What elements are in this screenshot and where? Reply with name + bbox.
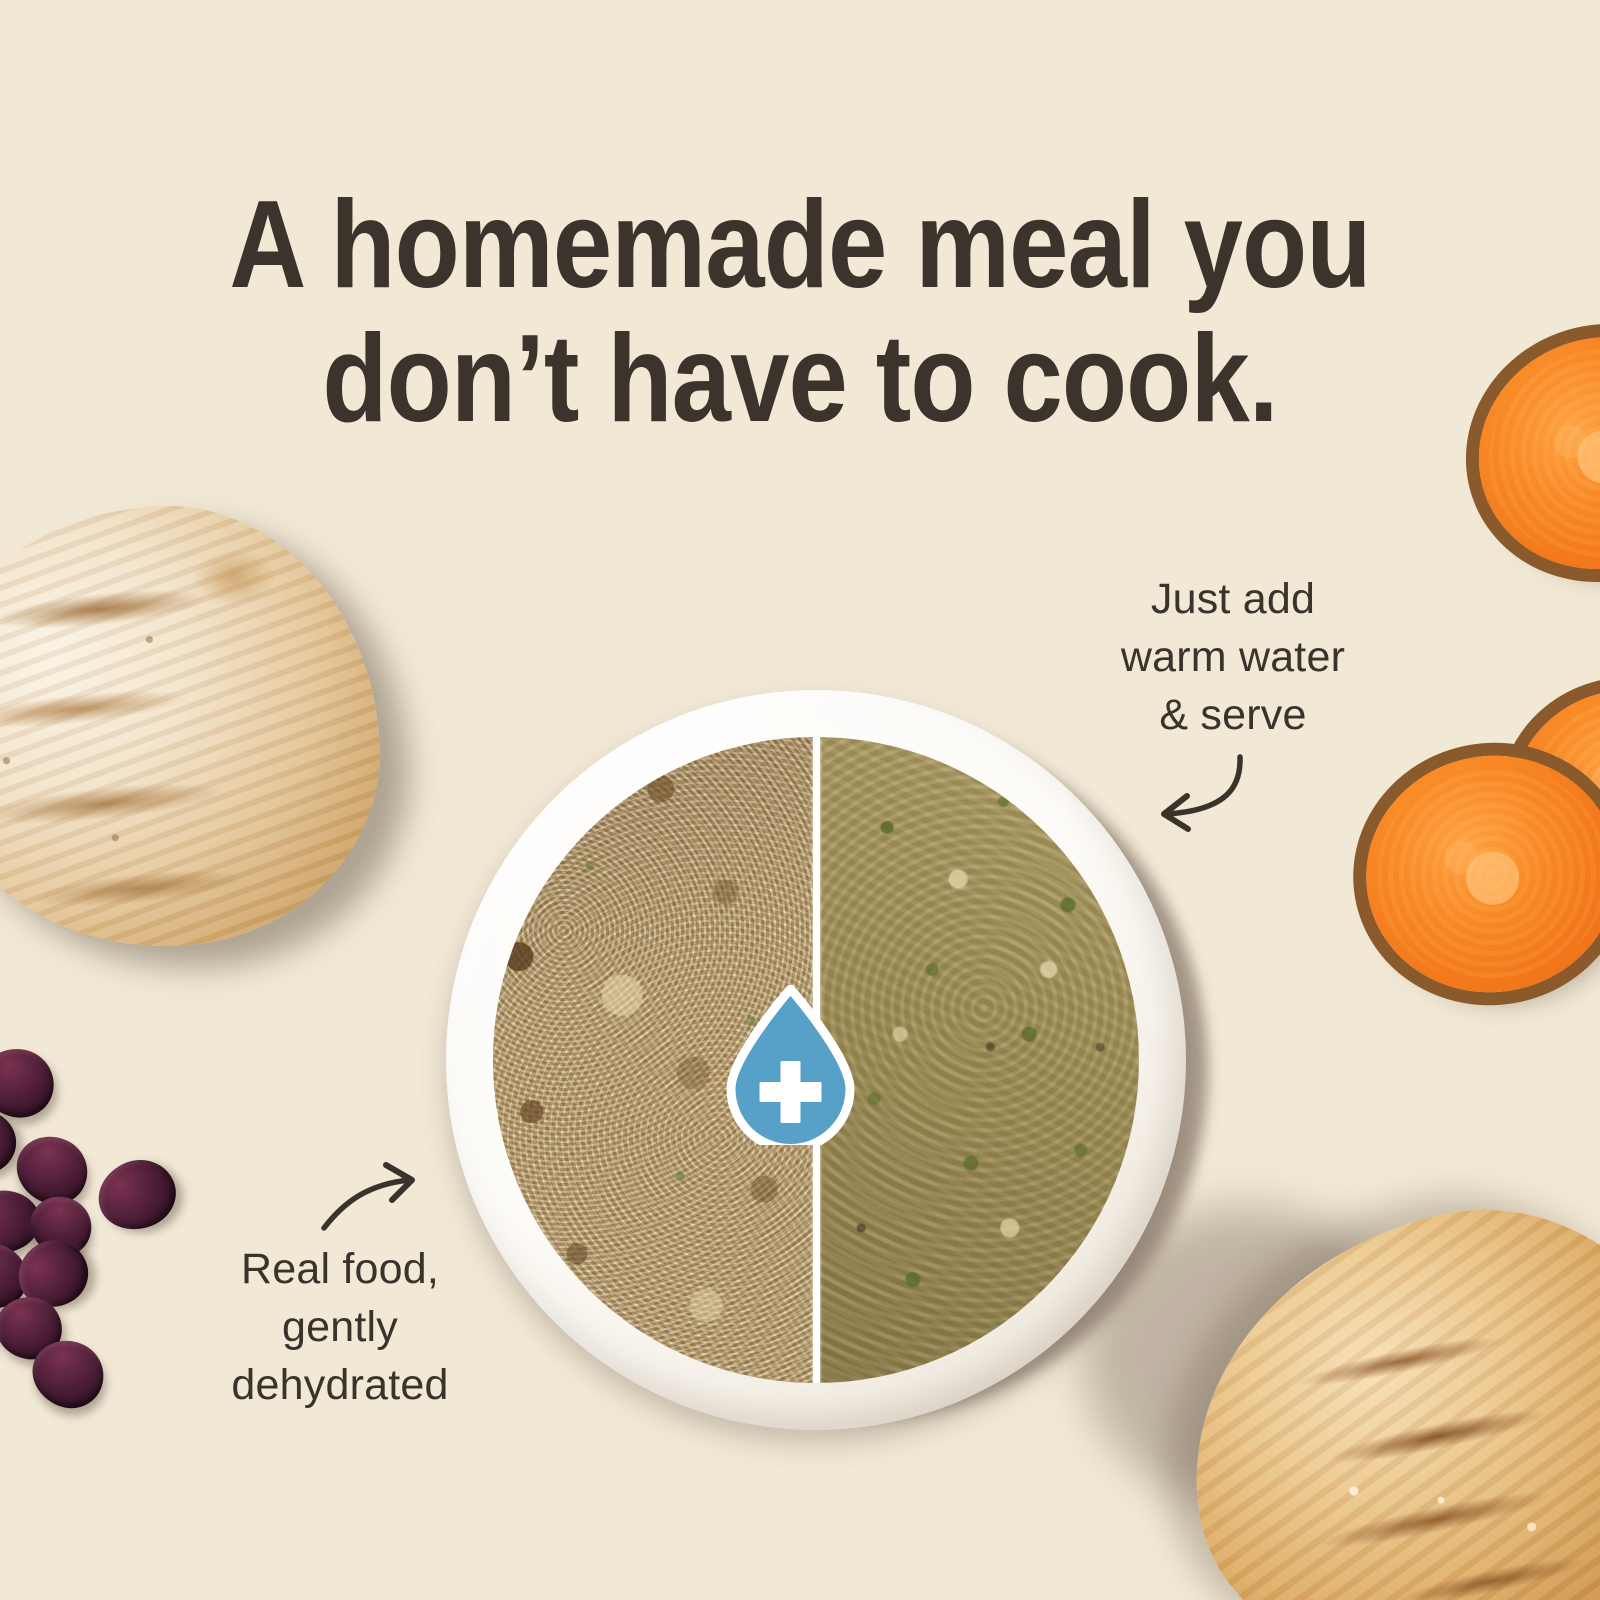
annotation-add-water: Just add warm water & serve — [1068, 570, 1398, 744]
fish-fillet-image — [0, 485, 399, 970]
water-drop-plus-icon — [718, 985, 863, 1145]
cranberry — [88, 1149, 186, 1241]
curved-arrow-up-right-icon — [322, 1162, 432, 1232]
fish-sear-marks — [0, 485, 399, 970]
cranberry — [0, 1042, 60, 1124]
annotation-real-food: Real food, gently dehydrated — [175, 1240, 505, 1414]
page-title: A homemade meal you don’t have to cook. — [112, 178, 1488, 446]
sweet-potato-slice-image — [1347, 736, 1600, 1012]
rehydrated-food-half — [816, 737, 1139, 1383]
promo-canvas: A homemade meal you don’t have to cook. — [0, 0, 1600, 1600]
sweet-potato-flesh — [1359, 747, 1600, 1000]
curved-arrow-down-left-icon — [1140, 752, 1250, 832]
